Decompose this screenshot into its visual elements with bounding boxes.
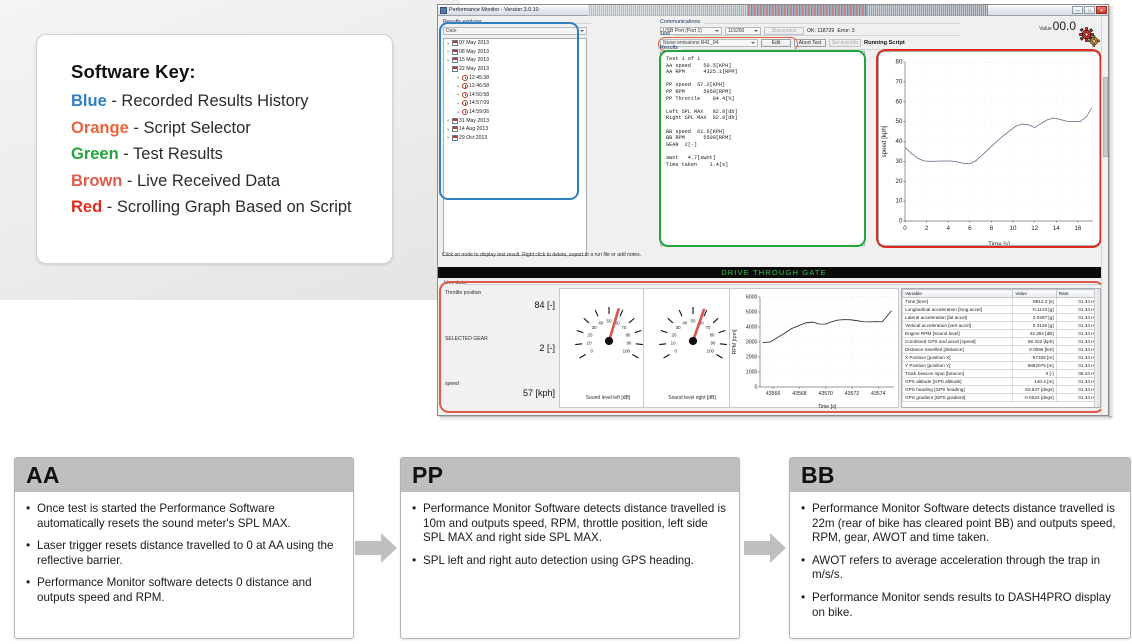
svg-text:30: 30: [896, 158, 903, 165]
svg-text:5000: 5000: [746, 310, 758, 316]
flow-arrow-aa-to-pp: [355, 533, 397, 563]
svg-text:12: 12: [1031, 225, 1038, 232]
svg-text:80: 80: [626, 332, 631, 337]
abort-test-button[interactable]: Abort Test: [794, 39, 826, 47]
tree-expander-icon[interactable]: +: [446, 58, 450, 63]
flow-arrow-pp-to-bb: [744, 533, 786, 563]
info-bullet: Laser trigger resets distance travelled …: [37, 539, 341, 568]
variable-rate-cell: 05.43 Hz: [1056, 369, 1099, 377]
tree-expander-icon[interactable]: +: [456, 84, 460, 89]
tree-expander-icon[interactable]: -: [446, 67, 450, 72]
tree-expander-icon[interactable]: +: [446, 41, 450, 46]
tree-node-label: 14:50:58: [469, 92, 489, 98]
titlebar-decoration-2: [748, 5, 868, 16]
table-row[interactable]: GPS altitude [GPS altitude]140.4 [m]01.3…: [903, 377, 1100, 385]
variable-value-cell: -97326 [m]: [1013, 353, 1056, 361]
table-row[interactable]: Y Position [position Y]5852075 [m]01.34 …: [903, 361, 1100, 369]
info-box-pp-header: PP: [401, 458, 739, 492]
tree-expander-icon[interactable]: +: [446, 135, 450, 140]
drive-through-gate-text: DRIVE THROUGH GATE: [721, 268, 827, 277]
variable-rate-cell: 01.34 Hz: [1056, 345, 1099, 353]
variable-name-cell: Vertical acceleration [vert accel]: [903, 321, 1013, 329]
svg-text:20: 20: [672, 332, 677, 337]
tree-node[interactable]: +14:50:58: [444, 91, 586, 100]
info-box-bb-header: BB: [790, 458, 1130, 492]
tree-node-label: 31 May 2013: [459, 118, 489, 124]
variable-value-cell: 0 [-]: [1013, 369, 1056, 377]
test-group: Test Noise emissions R41_04 Edit Abort T…: [660, 31, 960, 37]
calendar-icon: [452, 66, 458, 72]
results-sort-combo[interactable]: Date: [443, 27, 587, 35]
tree-node-label: 22 May 2013: [459, 66, 489, 72]
group-divider: [682, 49, 938, 50]
gears-icon[interactable]: [1078, 27, 1100, 47]
tree-node-label: 15 May 2013: [459, 57, 489, 63]
tree-node[interactable]: +07 May 2013: [444, 39, 586, 48]
test-label: Test: [660, 31, 960, 37]
variable-value-cell: -0.5022 [degs]: [1013, 393, 1056, 401]
table-row[interactable]: Distance travelled [distance]0.0096 [km]…: [903, 345, 1100, 353]
gauge-sound-level-right: 0102030405060708090100 Sound level right…: [643, 288, 741, 408]
variable-rate-cell: 01.34 Hz: [1056, 329, 1099, 337]
tree-node[interactable]: +08 May 2013: [444, 48, 586, 57]
info-box-aa-bullets: Once test is started the Performance Sof…: [15, 492, 353, 606]
value-readout: Value 00.0: [1039, 21, 1076, 32]
svg-text:4: 4: [946, 225, 950, 232]
scrolling-speed-chart: 010203040506070800246810121416Time [s]sp…: [879, 52, 1100, 246]
tree-node-label: 14:57:09: [469, 100, 489, 106]
svg-text:70: 70: [896, 78, 903, 85]
svg-text:speed [kph]: speed [kph]: [881, 125, 888, 157]
svg-text:20: 20: [896, 178, 903, 185]
svg-text:50: 50: [691, 319, 696, 324]
tree-node-label: 08 May 2013: [459, 49, 489, 55]
tree-node[interactable]: +31 May 2013: [444, 116, 586, 125]
variable-rate-cell: 01.34 Hz: [1056, 297, 1099, 305]
svg-text:0: 0: [903, 225, 907, 232]
info-box-bb-bullets: Performance Monitor Software detects dis…: [790, 492, 1130, 620]
variable-value-cell: 8912.3 [s]: [1013, 297, 1056, 305]
live-data-panel: Live data Throttle position 84 [-] SELEC…: [441, 280, 1105, 414]
info-box-bb: BB Performance Monitor Software detects …: [789, 457, 1131, 639]
svg-text:RPM [rpm]: RPM [rpm]: [732, 329, 738, 354]
svg-text:4000: 4000: [746, 325, 758, 331]
calendar-icon: [452, 40, 458, 46]
variable-value-cell: 140.4 [m]: [1013, 377, 1056, 385]
svg-text:40: 40: [896, 138, 903, 145]
table-header-row: VariableValueRate: [903, 290, 1100, 298]
tree-node[interactable]: +15 May 2013: [444, 56, 586, 65]
window-title: Performance Monitor - Version 3.0.10: [449, 7, 539, 13]
info-bullet: Performance Monitor software detects 0 d…: [37, 576, 341, 605]
info-box-pp: PP Performance Monitor Software detects …: [400, 457, 740, 639]
calendar-icon: [452, 126, 458, 132]
tree-expander-icon[interactable]: +: [446, 127, 450, 132]
results-explorer-label: Results explorer: [443, 19, 482, 25]
group-divider: [704, 23, 960, 24]
variable-rate-cell: 01.34 Hz: [1056, 361, 1099, 369]
software-key-row: Brown - Live Received Data: [71, 172, 392, 191]
speed-value: 57 [kph]: [523, 388, 555, 398]
svg-text:3000: 3000: [746, 340, 758, 346]
tree-node-label: 29 Oct 2013: [459, 135, 487, 141]
window-shadow-bottom: [440, 416, 1112, 421]
selected-gear-value: 2 [-]: [539, 343, 555, 353]
live-readouts: Throttle position 84 [-] SELECTED GEAR 2…: [445, 288, 557, 408]
variable-name-cell: GPS heading [GPS heading]: [903, 385, 1013, 393]
svg-text:30: 30: [592, 325, 597, 330]
software-key-description: - Recorded Results History: [107, 92, 309, 110]
live-rpm-chart-panel[interactable]: 0100020003000400050006000435664356843570…: [729, 288, 899, 408]
table-row[interactable]: Engine RPM [Sound level]42.292 [dB]01.34…: [903, 329, 1100, 337]
svg-text:70: 70: [705, 325, 710, 330]
software-key-row: Blue - Recorded Results History: [71, 92, 392, 111]
variable-value-cell: 5852075 [m]: [1013, 361, 1056, 369]
svg-text:43568: 43568: [792, 391, 807, 397]
table-row[interactable]: Vertical acceleration [vert accel]0.3125…: [903, 321, 1100, 329]
live-data-label: Live data: [444, 280, 466, 286]
info-box-pp-bullets: Performance Monitor Software detects dis…: [401, 492, 739, 568]
variable-value-cell: 0.0297 [g]: [1013, 313, 1056, 321]
svg-text:0: 0: [674, 349, 677, 354]
software-key-color-word: Green: [71, 145, 119, 163]
group-divider: [465, 284, 1103, 285]
performance-monitor-window[interactable]: Performance Monitor - Version 3.0.10 — □…: [437, 4, 1109, 416]
calendar-icon: [452, 57, 458, 63]
software-key-row: Red - Scrolling Graph Based on Script: [71, 198, 392, 217]
variable-rate-cell: 01.34 Hz: [1056, 321, 1099, 329]
results-explorer-group: Results explorer Date +07 May 2013+08 Ma…: [441, 19, 591, 259]
table-column-header[interactable]: Value: [1013, 290, 1056, 298]
svg-text:14: 14: [1053, 225, 1060, 232]
scrolling-graph-panel[interactable]: 010203040506070800246810121416Time [s]sp…: [878, 51, 1100, 246]
svg-text:20: 20: [588, 332, 593, 337]
table-row[interactable]: Track beacon input [beacon]0 [-]05.43 Hz: [903, 369, 1100, 377]
svg-text:2000: 2000: [746, 355, 758, 361]
svg-text:8: 8: [990, 225, 994, 232]
live-variable-table[interactable]: VariableValueRate Time [time]8912.3 [s]0…: [901, 288, 1101, 408]
svg-text:6000: 6000: [746, 295, 758, 301]
chevron-down-icon: [580, 30, 584, 32]
tree-node-label: 14:59:06: [469, 109, 489, 115]
drive-through-gate-banner: DRIVE THROUGH GATE: [438, 267, 1109, 278]
software-key-row: Orange - Script Selector: [71, 119, 392, 138]
gauge-left-caption: Sound level left [dB]: [560, 395, 656, 401]
close-button[interactable]: ✕: [1096, 6, 1107, 14]
svg-text:Time [s]: Time [s]: [818, 404, 837, 409]
variable-value-cell: 53.547 [degs]: [1013, 385, 1056, 393]
svg-text:90: 90: [626, 341, 631, 346]
info-bullet: SPL left and right auto detection using …: [423, 554, 727, 569]
svg-text:0: 0: [755, 385, 758, 391]
tree-expander-icon[interactable]: +: [446, 49, 450, 54]
svg-text:50: 50: [607, 319, 612, 324]
variable-rate-cell: 01.34 Hz: [1056, 393, 1099, 401]
communications-label: Communications: [660, 19, 960, 25]
svg-text:16: 16: [1074, 225, 1081, 232]
info-box-pp-title: PP: [412, 462, 443, 489]
communications-group: Communications USB Port (Port 1) 115200 …: [660, 19, 960, 25]
svg-text:0: 0: [899, 218, 903, 225]
speed-label: speed: [445, 381, 459, 387]
running-script-status: Running Script: [864, 40, 905, 46]
tree-node-label: 07 May 2013: [459, 40, 489, 46]
software-key-description: - Scrolling Graph Based on Script: [102, 198, 351, 216]
calendar-icon: [452, 49, 458, 55]
clock-icon: [462, 75, 468, 81]
gauge-right-caption: Sound level right [dB]: [644, 395, 740, 401]
minimize-button[interactable]: —: [1072, 6, 1083, 14]
tree-node-label: 12:46:58: [469, 83, 489, 89]
variable-name-cell: Engine RPM [Sound level]: [903, 329, 1013, 337]
table-row[interactable]: Longitudinal acceleration [long accel]-0…: [903, 305, 1100, 313]
app-icon: [440, 7, 447, 14]
variable-name-cell: Y Position [position Y]: [903, 361, 1013, 369]
window-scrollbar[interactable]: [1101, 17, 1108, 415]
software-key-description: - Live Received Data: [122, 172, 280, 190]
variable-name-cell: Longitudinal acceleration [long accel]: [903, 305, 1013, 313]
svg-text:50: 50: [896, 118, 903, 125]
software-key-color-word: Orange: [71, 119, 129, 137]
variable-name-cell: Track beacon input [beacon]: [903, 369, 1013, 377]
variable-name-cell: GPS gradient [GPS gradient]: [903, 393, 1013, 401]
table-row[interactable]: GPS heading [GPS heading]53.547 [degs]01…: [903, 385, 1100, 393]
test-row: Noise emissions R41_04 Edit Abort Test S…: [660, 39, 905, 47]
svg-text:100: 100: [707, 349, 715, 354]
svg-text:100: 100: [623, 349, 631, 354]
clock-icon: [462, 92, 468, 98]
tree-node-label: 14 Aug 2013: [459, 126, 488, 132]
value-number: 00.0: [1053, 21, 1076, 32]
scrollbar-thumb[interactable]: [1103, 77, 1108, 157]
edit-script-button[interactable]: Edit: [761, 39, 791, 47]
variable-rate-cell: 01.34 Hz: [1056, 337, 1099, 345]
tree-node-label: 12:45:38: [469, 75, 489, 81]
clock-icon: [462, 100, 468, 106]
svg-text:43574: 43574: [871, 391, 886, 397]
clock-icon: [462, 109, 468, 115]
table-row[interactable]: Time [time]8912.3 [s]01.34 Hz: [903, 297, 1100, 305]
tree-node[interactable]: +29 Oct 2013: [444, 134, 586, 143]
software-key-color-word: Blue: [71, 92, 107, 110]
live-rpm-chart: 0100020003000400050006000435664356843570…: [730, 289, 900, 409]
svg-text:1000: 1000: [746, 370, 758, 376]
table-body: Time [time]8912.3 [s]01.34 HzLongitudina…: [903, 297, 1100, 401]
chevron-down-icon: [751, 42, 755, 44]
variable-name-cell: Distance travelled [distance]: [903, 345, 1013, 353]
svg-text:43572: 43572: [845, 391, 860, 397]
svg-text:60: 60: [896, 98, 903, 105]
info-box-aa: AA Once test is started the Performance …: [14, 457, 354, 639]
software-key-title: Software Key:: [71, 61, 392, 83]
tree-node[interactable]: +14:57:09: [444, 99, 586, 108]
table-row[interactable]: GPS gradient [GPS gradient]-0.5022 [degs…: [903, 393, 1100, 401]
window-shadow-right: [1109, 6, 1115, 418]
results-explorer-hint: Click on node to display test result. Ri…: [442, 252, 742, 258]
maximize-button[interactable]: □: [1084, 6, 1095, 14]
software-key-card: Software Key: Blue - Recorded Results Hi…: [36, 34, 393, 264]
calendar-icon: [452, 118, 458, 124]
variable-rate-cell: 01.34 Hz: [1056, 377, 1099, 385]
info-box-aa-title: AA: [26, 462, 60, 489]
software-key-color-word: Brown: [71, 172, 122, 190]
table-row[interactable]: Combined GPS and accel [speed]56.322 [kp…: [903, 337, 1100, 345]
svg-text:40: 40: [598, 320, 603, 325]
calendar-icon: [452, 135, 458, 141]
svg-text:43570: 43570: [818, 391, 833, 397]
variable-value-cell: 56.322 [kph]: [1013, 337, 1056, 345]
tree-expander-icon[interactable]: +: [446, 118, 450, 123]
variable-name-cell: GPS altitude [GPS altitude]: [903, 377, 1013, 385]
tree-node[interactable]: +14 Aug 2013: [444, 125, 586, 134]
group-divider: [674, 35, 960, 36]
tree-expander-icon[interactable]: +: [456, 75, 460, 80]
tree-expander-icon[interactable]: +: [456, 110, 460, 115]
svg-text:30: 30: [676, 325, 681, 330]
svg-text:0: 0: [590, 349, 593, 354]
gauge-dial-right: 0102030405060708090100: [644, 289, 742, 389]
results-sort-value: Date: [446, 28, 457, 34]
tree-node[interactable]: -22 May 2013: [444, 65, 586, 74]
info-bullet: Performance Monitor Software detects dis…: [423, 502, 727, 546]
svg-text:10: 10: [587, 341, 592, 346]
set-test-info-button[interactable]: Set test info: [829, 39, 861, 47]
svg-text:90: 90: [710, 341, 715, 346]
table-column-header[interactable]: Rate: [1056, 290, 1099, 298]
info-bullet: Performance Monitor Software detects dis…: [812, 502, 1118, 546]
svg-text:80: 80: [710, 332, 715, 337]
variable-rate-cell: 01.34 Hz: [1056, 313, 1099, 321]
table-row[interactable]: X Position [position X]-97326 [m]01.34 H…: [903, 353, 1100, 361]
selected-gear-label: SELECTED GEAR: [445, 336, 488, 342]
results-text-content: Test 1 of 1 AA speed 50.5[KPH] AA RPM 43…: [661, 52, 864, 168]
variable-rate-cell: 01.34 Hz: [1056, 305, 1099, 313]
software-key-row: Green - Test Results: [71, 145, 392, 164]
svg-text:43566: 43566: [766, 391, 781, 397]
variable-name-cell: X Position [position X]: [903, 353, 1013, 361]
software-key-color-word: Red: [71, 198, 102, 216]
info-box-bb-title: BB: [801, 462, 835, 489]
variable-table: VariableValueRate Time [time]8912.3 [s]0…: [902, 289, 1100, 402]
variable-rate-cell: 01.34 Hz: [1056, 385, 1099, 393]
software-key-description: - Script Selector: [129, 119, 251, 137]
group-divider: [469, 23, 591, 24]
svg-text:10: 10: [896, 198, 903, 205]
window-buttons[interactable]: — □ ✕: [1072, 6, 1107, 14]
variable-value-cell: -0.1133 [g]: [1013, 305, 1056, 313]
svg-text:2: 2: [925, 225, 929, 232]
tree-node[interactable]: +14:59:06: [444, 108, 586, 117]
svg-text:Time [s]: Time [s]: [988, 241, 1010, 246]
throttle-position-value: 84 [-]: [534, 300, 555, 310]
window-titlebar: Performance Monitor - Version 3.0.10 — □…: [438, 5, 1108, 16]
tree-expander-icon[interactable]: +: [456, 101, 460, 106]
variable-name-cell: Combined GPS and accel [speed]: [903, 337, 1013, 345]
results-tree[interactable]: +07 May 2013+08 May 2013+15 May 2013-22 …: [443, 38, 587, 256]
variable-value-cell: 0.3125 [g]: [1013, 321, 1056, 329]
info-bullet: AWOT refers to average acceleration thro…: [812, 554, 1118, 583]
table-column-header[interactable]: Variable: [903, 290, 1013, 298]
table-scrollbar[interactable]: [1094, 289, 1100, 407]
tree-expander-icon[interactable]: +: [456, 92, 460, 97]
variable-name-cell: Time [time]: [903, 297, 1013, 305]
clock-icon: [462, 83, 468, 89]
value-label: Value: [1039, 26, 1051, 32]
svg-text:10: 10: [671, 341, 676, 346]
svg-text:70: 70: [621, 325, 626, 330]
software-key-description: - Test Results: [119, 145, 223, 163]
throttle-position-label: Throttle position: [445, 290, 481, 296]
variable-value-cell: 42.292 [dB]: [1013, 329, 1056, 337]
software-key-rows: Blue - Recorded Results HistoryOrange - …: [71, 92, 392, 217]
svg-text:6: 6: [968, 225, 972, 232]
results-text-panel[interactable]: Test 1 of 1 AA speed 50.5[KPH] AA RPM 43…: [660, 51, 865, 246]
tree-node[interactable]: +12:45:38: [444, 73, 586, 82]
tree-node[interactable]: +12:46:58: [444, 82, 586, 91]
svg-text:40: 40: [682, 320, 687, 325]
table-row[interactable]: Lateral acceleration [lat accel]0.0297 […: [903, 313, 1100, 321]
info-bullet: Once test is started the Performance Sof…: [37, 502, 341, 531]
svg-text:80: 80: [896, 59, 903, 66]
variable-value-cell: 0.0096 [km]: [1013, 345, 1056, 353]
info-box-aa-header: AA: [15, 458, 353, 492]
svg-text:10: 10: [1010, 225, 1017, 232]
info-bullet: Performance Monitor sends results to DAS…: [812, 591, 1118, 620]
variable-name-cell: Lateral acceleration [lat accel]: [903, 313, 1013, 321]
variable-rate-cell: 01.34 Hz: [1056, 353, 1099, 361]
